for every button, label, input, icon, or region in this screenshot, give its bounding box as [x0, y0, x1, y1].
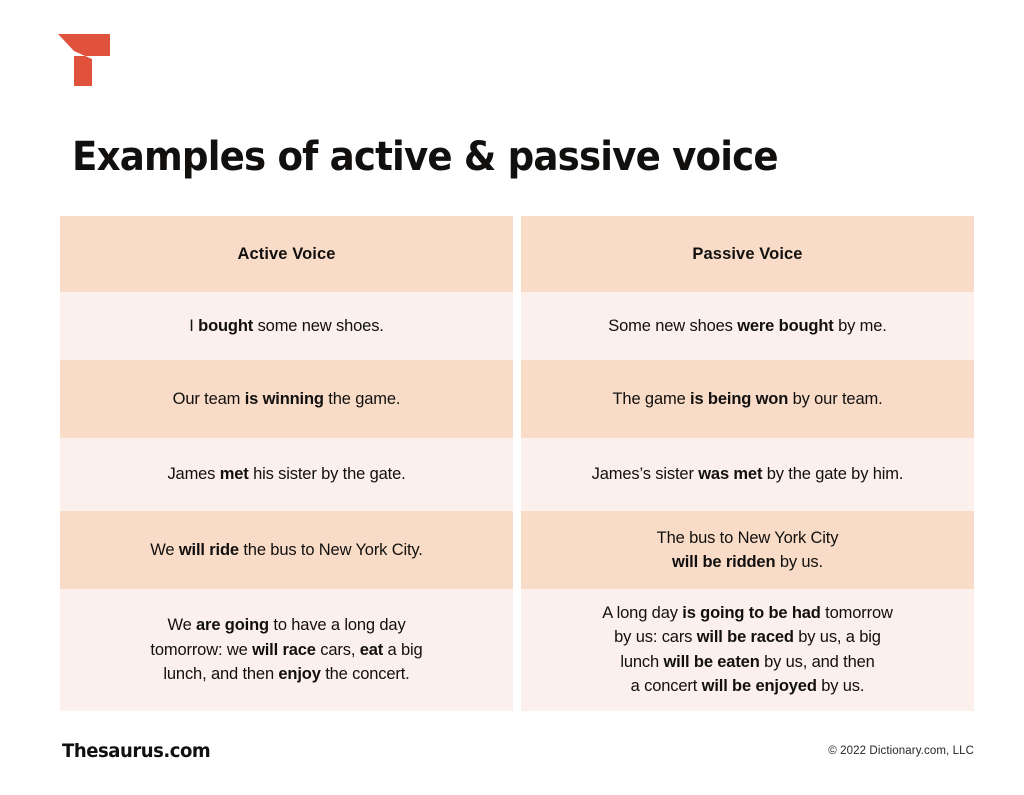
table-row: We will ride the bus to New York City. T…: [60, 511, 974, 589]
table-row: Our team is winning the game. The game i…: [60, 360, 974, 438]
active-passive-voice-table: Active Voice Passive Voice I bought some…: [60, 216, 974, 711]
passive-voice-cell: The game is being won by our team.: [517, 360, 974, 438]
footer-brand-name: Thesaurus.com: [62, 740, 210, 762]
column-header-passive-label: Passive Voice: [521, 230, 974, 278]
active-voice-text: James met his sister by the gate.: [60, 450, 513, 498]
table-row: We are going to have a long daytomorrow:…: [60, 589, 974, 711]
table-row: James met his sister by the gate. James’…: [60, 438, 974, 511]
active-voice-cell: I bought some new shoes.: [60, 292, 517, 360]
active-voice-text: Our team is winning the game.: [60, 375, 513, 423]
active-voice-text: I bought some new shoes.: [60, 302, 513, 350]
infographic-page: Examples of active & passive voice Activ…: [0, 0, 1024, 795]
passive-voice-cell: James’s sister was met by the gate by hi…: [517, 438, 974, 511]
active-voice-text: We are going to have a long daytomorrow:…: [60, 601, 513, 698]
active-voice-cell: Our team is winning the game.: [60, 360, 517, 438]
thesaurus-t-logo-icon: [58, 34, 110, 86]
footer-copyright: © 2022 Dictionary.com, LLC: [828, 745, 974, 757]
passive-voice-cell: A long day is going to be had tomorrowby…: [517, 589, 974, 711]
passive-voice-text: A long day is going to be had tomorrowby…: [521, 589, 974, 711]
passive-voice-cell: The bus to New York Citywill be ridden b…: [517, 511, 974, 589]
active-voice-text: We will ride the bus to New York City.: [60, 526, 513, 574]
passive-voice-text: The game is being won by our team.: [521, 375, 974, 423]
column-header-active-label: Active Voice: [60, 230, 513, 278]
passive-voice-text: Some new shoes were bought by me.: [521, 302, 974, 350]
table-row: I bought some new shoes. Some new shoes …: [60, 292, 974, 360]
passive-voice-text: James’s sister was met by the gate by hi…: [521, 450, 974, 498]
active-voice-cell: James met his sister by the gate.: [60, 438, 517, 511]
column-header-passive: Passive Voice: [517, 216, 974, 292]
passive-voice-text: The bus to New York Citywill be ridden b…: [521, 514, 974, 587]
page-title: Examples of active & passive voice: [72, 134, 778, 180]
column-header-active: Active Voice: [60, 216, 517, 292]
active-voice-cell: We are going to have a long daytomorrow:…: [60, 589, 517, 711]
passive-voice-cell: Some new shoes were bought by me.: [517, 292, 974, 360]
table-header-row: Active Voice Passive Voice: [60, 216, 974, 292]
active-voice-cell: We will ride the bus to New York City.: [60, 511, 517, 589]
